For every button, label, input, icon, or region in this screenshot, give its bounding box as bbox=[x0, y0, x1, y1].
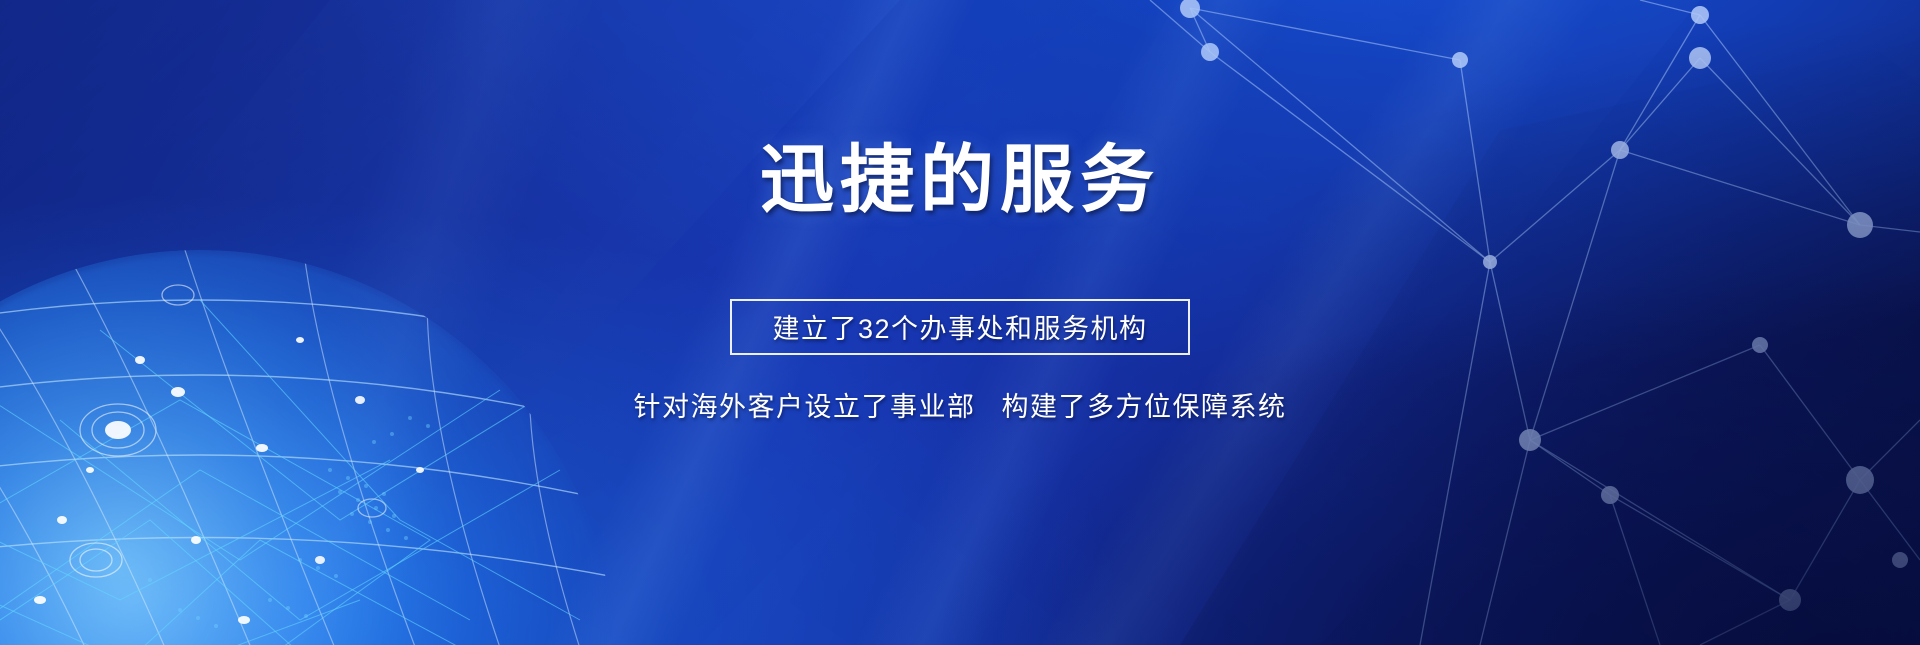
tagline-box: 建立了32个办事处和服务机构 bbox=[730, 299, 1189, 355]
service-hero-banner: 迅捷的服务 建立了32个办事处和服务机构 针对海外客户设立了事业部构建了多方位保… bbox=[0, 0, 1920, 645]
tagline-box-text: 建立了32个办事处和服务机构 bbox=[772, 307, 1147, 346]
subline-right-text: 构建了多方位保障系统 bbox=[1002, 392, 1287, 422]
banner-content: 迅捷的服务 建立了32个办事处和服务机构 针对海外客户设立了事业部构建了多方位保… bbox=[0, 0, 1920, 645]
page-title: 迅捷的服务 bbox=[760, 142, 1160, 217]
subline-left-text: 针对海外客户设立了事业部 bbox=[634, 392, 976, 422]
subline: 针对海外客户设立了事业部构建了多方位保障系统 bbox=[634, 385, 1287, 424]
